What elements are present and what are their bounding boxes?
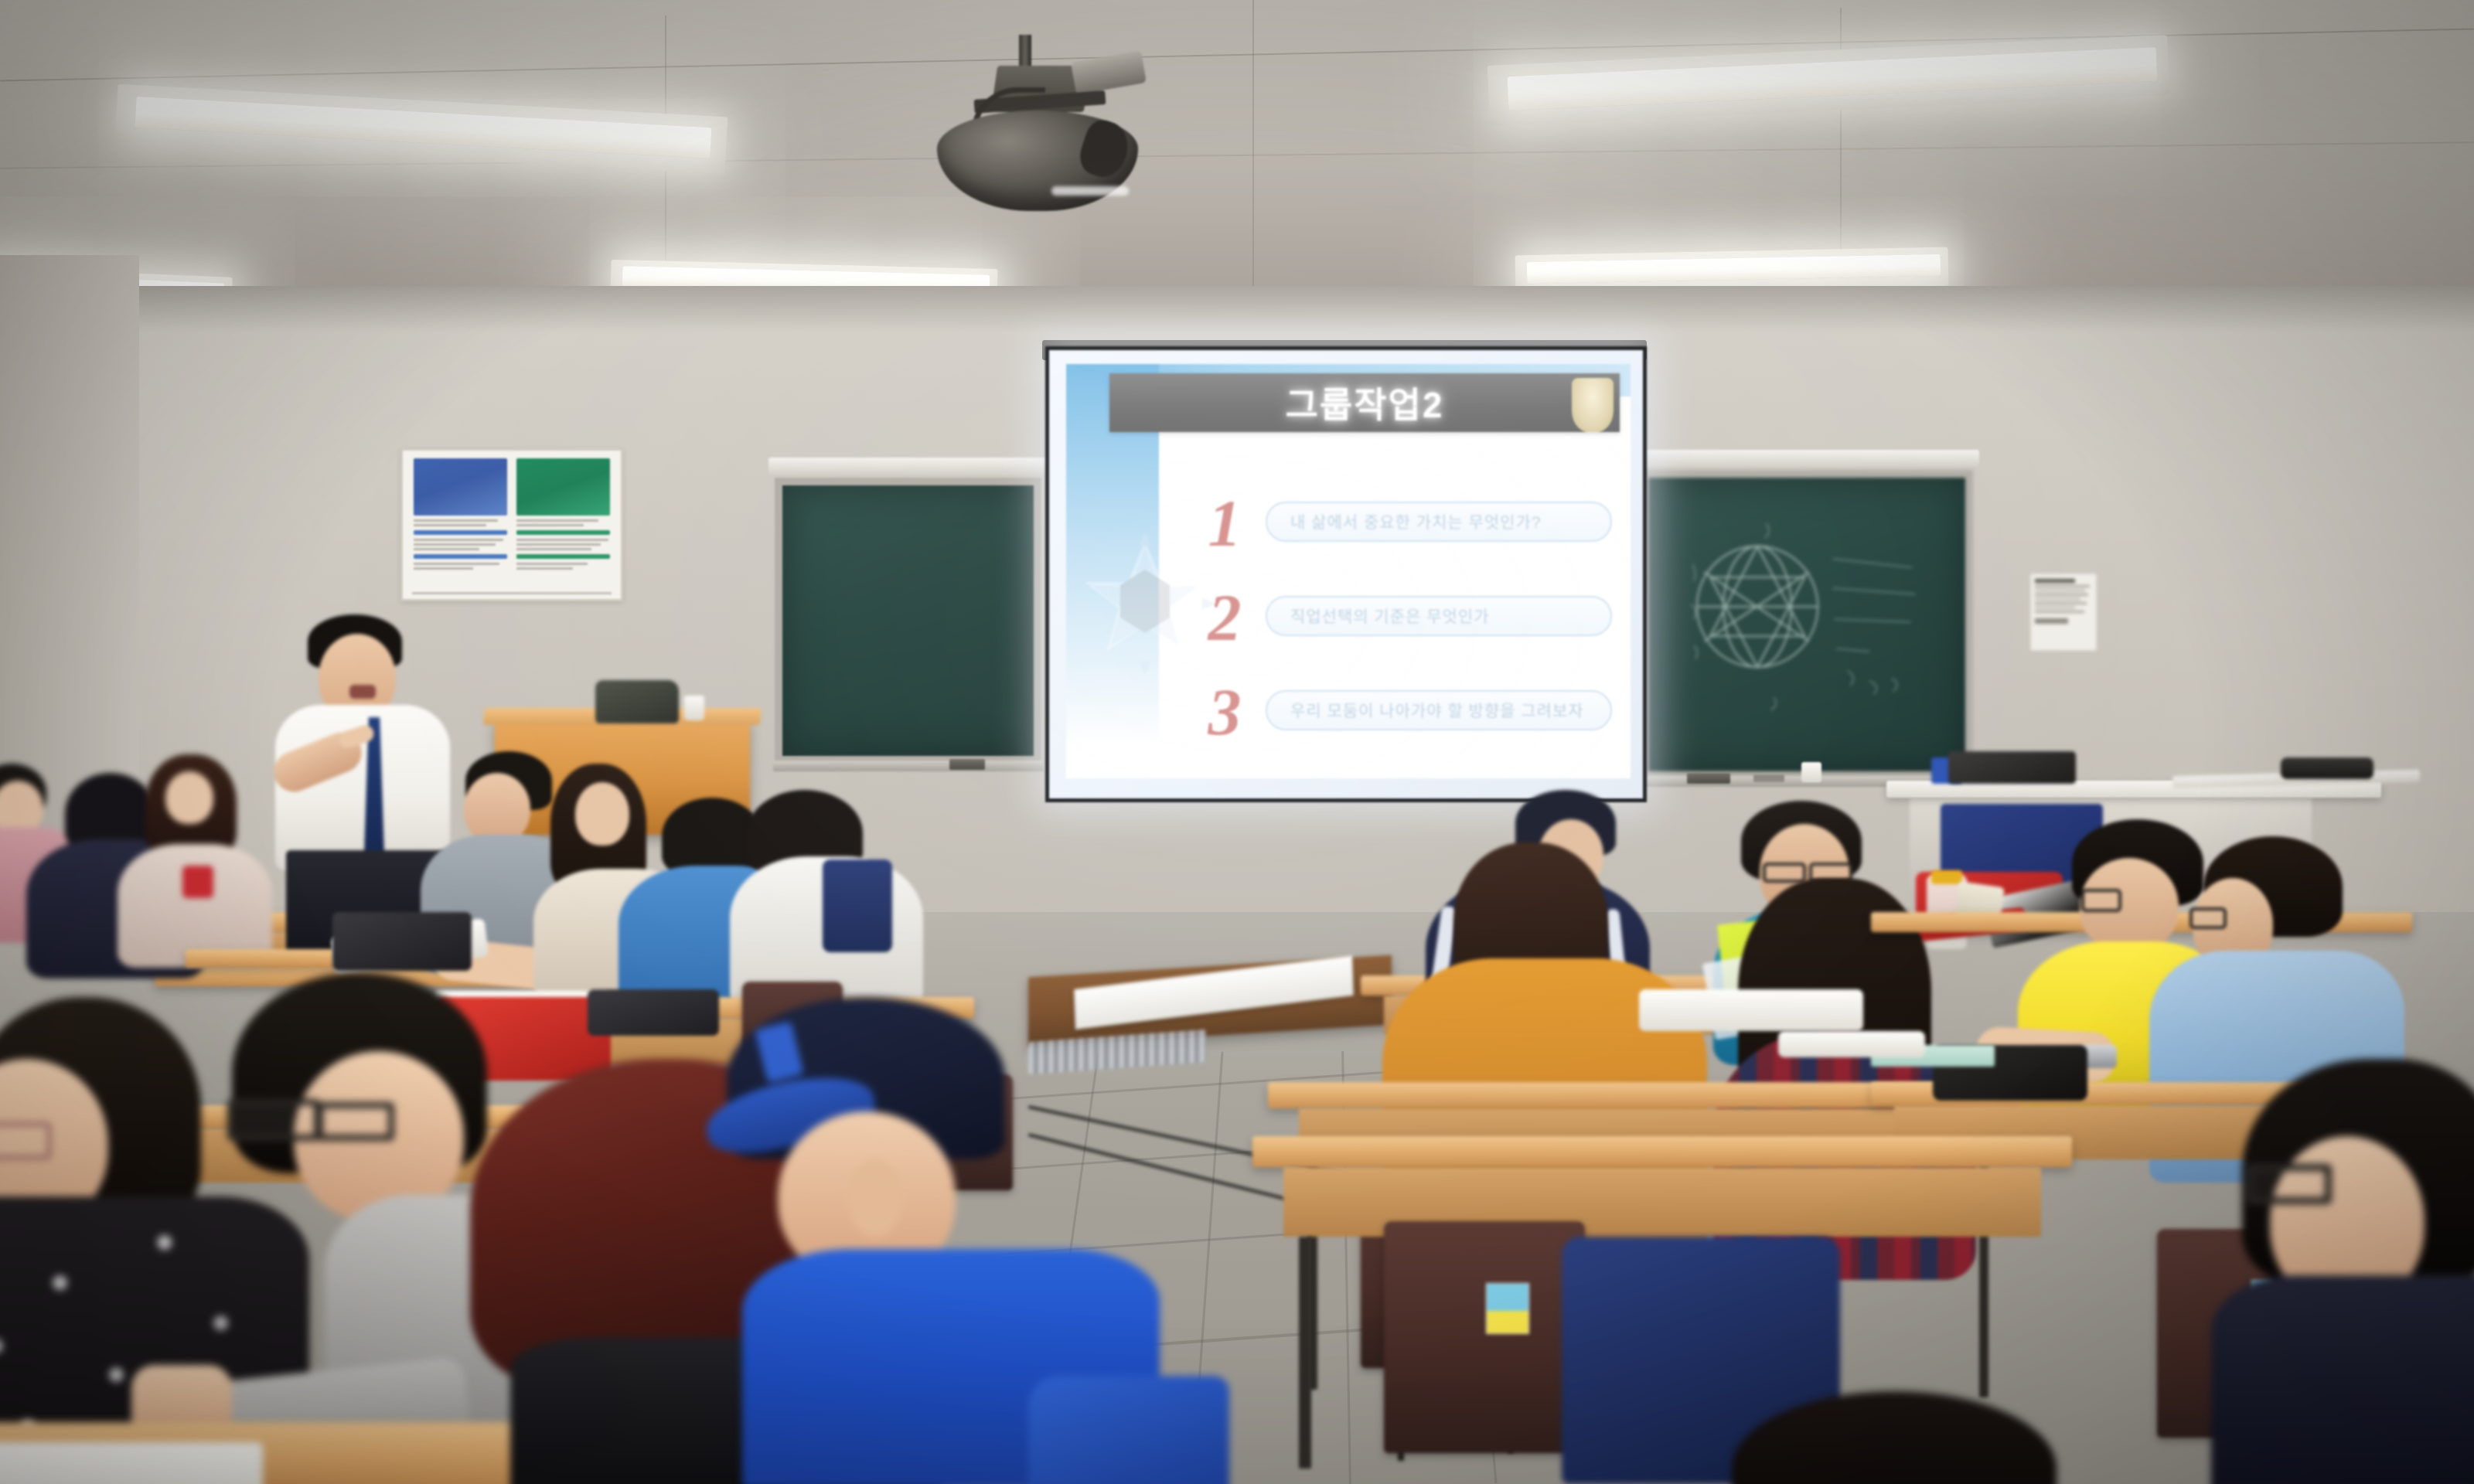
papers-on-desk [0, 1442, 263, 1484]
screen-surface: 그룹작업2 1 2 3 내 삶에서 중요한 가치는 무엇인가? 직업선택의 기준… [1049, 350, 1643, 798]
presentation-slide: 그룹작업2 1 2 3 내 삶에서 중요한 가치는 무엇인가? 직업선택의 기준… [1066, 364, 1631, 778]
poster-section-bar [516, 554, 610, 559]
poster-caption [414, 519, 507, 526]
slide-title-bar: 그룹작업2 [1109, 373, 1620, 432]
screen-valance-right [1634, 450, 1979, 467]
poster-caption [516, 519, 610, 526]
chalkboard-eraser [1687, 773, 1730, 784]
slide-bullet-2-text: 직업선택의 기준은 무엇인가 [1290, 604, 1490, 628]
slide-bullet-1: 내 삶에서 중요한 가치는 무엇인가? [1266, 502, 1612, 542]
poster-section-bar [414, 530, 507, 535]
chalkboard-right [1641, 470, 1973, 779]
instructor-mouth [349, 685, 376, 699]
poster-body-text [516, 563, 610, 570]
chalkboard-left [775, 478, 1041, 764]
dark-equipment-on-counter [1948, 751, 2076, 784]
poster-panel-green [516, 458, 610, 591]
eyeglasses [2247, 1164, 2332, 1204]
desk [1252, 1136, 2072, 1167]
dark-bag-on-desk [332, 912, 472, 971]
chalk-tray-left [773, 761, 1044, 771]
projection-screen: 그룹작업2 1 2 3 내 삶에서 중요한 가치는 무엇인가? 직업선택의 기준… [1045, 346, 1647, 802]
poster-body-text [414, 563, 507, 570]
poster-footer-rule [412, 592, 612, 594]
bottle-cap [1931, 870, 1962, 884]
notice-signature [2035, 618, 2068, 624]
classroom-photo: 그룹작업2 1 2 3 내 삶에서 중요한 가치는 무엇인가? 직업선택의 기준… [0, 0, 2474, 1484]
papers-on-desk [1639, 989, 1863, 1031]
slide-number-1: 1 [1182, 485, 1267, 562]
dark-equipment-on-shelf [2281, 757, 2373, 779]
red-item-on-desk [182, 866, 213, 898]
navy-hood [823, 859, 892, 952]
desk-leg [1299, 1237, 1311, 1469]
chalk-diagram-circle-star [1648, 478, 1965, 772]
wall-ceiling-shadow [0, 286, 2474, 332]
chair-sticker [1486, 1283, 1529, 1334]
slide-number-column: 1 2 3 [1182, 480, 1267, 732]
poster-panel-blue [414, 458, 507, 591]
notice-title-bar [2035, 579, 2075, 583]
slide-title: 그룹작업2 [1286, 377, 1444, 428]
slide-number-2: 2 [1182, 579, 1267, 656]
eyeglasses [227, 1099, 320, 1141]
poster-body-text [414, 539, 507, 550]
papers-on-desk [1778, 1031, 1925, 1057]
slide-number-3: 3 [1182, 673, 1267, 751]
poster-hero-image-blue [414, 458, 507, 516]
wall-poster-frame [400, 448, 623, 601]
poster-body-text [516, 539, 610, 550]
slide-corner-ornament [1572, 378, 1614, 432]
chair [1384, 1221, 1585, 1453]
eyeglasses [317, 1102, 394, 1141]
ceiling-seam [1252, 0, 1254, 325]
projector-highlight [1051, 186, 1129, 196]
ear [847, 1159, 903, 1237]
poster-section-bar [414, 554, 507, 559]
slide-bullet-1-text: 내 삶에서 중요한 가치는 무엇인가? [1290, 510, 1542, 533]
dark-bag-on-desk [588, 989, 719, 1036]
poster-hero-image-green [516, 458, 610, 516]
projector-mount-arm [1071, 50, 1147, 94]
wall-notice [2030, 574, 2097, 651]
blue-sleeve-foreground [1028, 1376, 1229, 1484]
dark-top [2211, 1275, 2474, 1484]
slide-bullet-3: 우리 모둠이 나아가야 할 방향을 그려보자 [1266, 690, 1612, 730]
chalkboard-eraser [949, 759, 985, 770]
bag-on-podium [595, 680, 679, 723]
ceiling-projector [920, 35, 1152, 213]
screen-valance-left [768, 458, 1048, 475]
chalk-stick [1753, 774, 1784, 782]
paper-cup [684, 696, 704, 720]
slide-bullet-3-text: 우리 모둠이 나아가야 할 방향을 그려보자 [1290, 699, 1584, 722]
slide-bullet-2: 직업선택의 기준은 무엇인가 [1266, 596, 1612, 636]
eyeglasses [0, 1122, 51, 1159]
poster-section-bar [516, 530, 610, 535]
paper-cup [1801, 762, 1821, 782]
